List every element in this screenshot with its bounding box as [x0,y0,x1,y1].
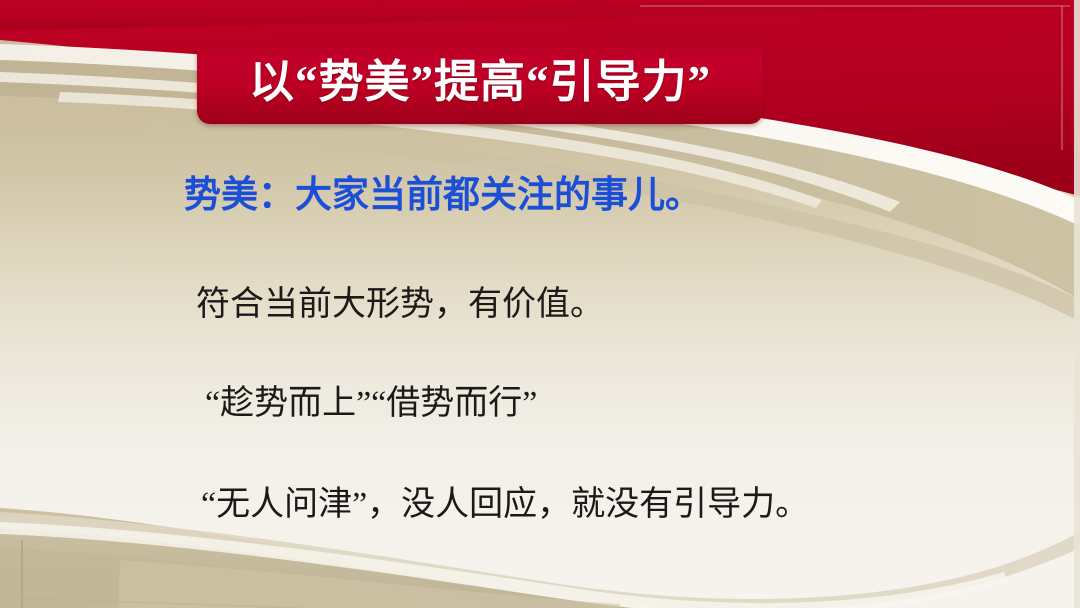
body-line-1: 符合当前大形势，有价值。 [196,285,604,324]
body-line-2: “趁势而上”“借势而行” [205,384,537,423]
slide-content: 势美：大家当前都关注的事儿。 符合当前大形势，有价值。 “趁势而上”“借势而行”… [0,0,1080,608]
body-line-3: “无人问津”，没人回应，就没有引导力。 [201,485,809,524]
subheading-text: 势美：大家当前都关注的事儿。 [184,176,702,217]
slide-canvas: 以“势美”提高“引导力” 势美：大家当前都关注的事儿。 符合当前大形势，有价值。… [0,0,1080,608]
